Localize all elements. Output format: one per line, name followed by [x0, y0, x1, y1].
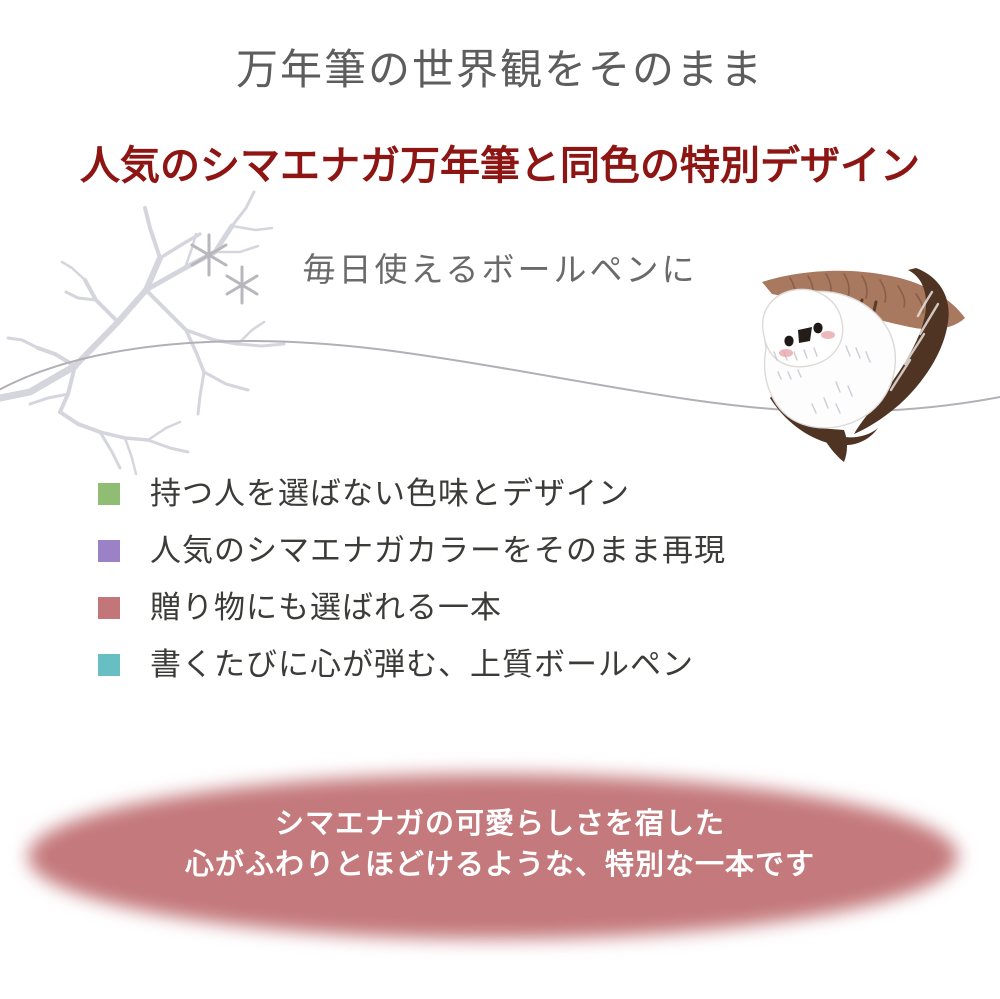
bird-cheek-left: [779, 349, 793, 357]
bird-cheek-right: [821, 331, 835, 339]
page-title: 万年筆の世界観をそのまま: [0, 36, 1000, 97]
bullet-square-icon: [98, 597, 120, 619]
bird-beak: [798, 327, 812, 343]
banner-line-1: シマエナガの可愛らしさを宿した: [0, 804, 1000, 845]
tree-silhouette-icon: [0, 192, 284, 474]
bird-wing-dark: [770, 394, 878, 445]
bird-tail: [854, 268, 949, 434]
feature-label: 贈り物にも選ばれる一本: [150, 592, 502, 623]
bullet-square-icon: [98, 540, 120, 562]
body-feather-texture: [774, 346, 870, 413]
banner-text: シマエナガの可愛らしさを宿した 心がふわりとほどけるような、特別な一本です: [0, 804, 1000, 886]
accent-headline: 人気のシマエナガ万年筆と同色の特別デザイン: [0, 133, 1000, 191]
list-item: 贈り物にも選ばれる一本: [98, 579, 958, 636]
feature-label: 人気のシマエナガカラーをそのまま再現: [150, 535, 726, 566]
bird-head: [763, 289, 843, 366]
feature-label: 持つ人を選ばない色味とデザイン: [150, 478, 630, 509]
list-item: 書くたびに心が弾む、上質ボールペン: [98, 636, 958, 693]
promo-page: 万年筆の世界観をそのまま 人気のシマエナガ万年筆と同色の特別デザイン 毎日使える…: [0, 0, 1000, 999]
bird-eye-right: [813, 323, 822, 334]
bullet-square-icon: [98, 483, 120, 505]
bird-foot-shadow: [818, 428, 847, 462]
feature-list: 持つ人を選ばない色味とデザイン 人気のシマエナガカラーをそのまま再現 贈り物にも…: [98, 465, 958, 693]
bottom-banner: シマエナガの可愛らしさを宿した 心がふわりとほどけるような、特別な一本です: [0, 766, 1000, 956]
list-item: 持つ人を選ばない色味とデザイン: [98, 465, 958, 522]
bird-legs: [848, 300, 880, 330]
bird-eye-left: [784, 336, 793, 347]
bird-body: [765, 291, 896, 428]
subheadline: 毎日使えるボールペンに: [0, 243, 1000, 291]
feature-label: 書くたびに心が弾む、上質ボールペン: [150, 649, 694, 680]
shimaenaga-bird-illustration: [762, 268, 965, 462]
snow-line: [0, 341, 1000, 412]
list-item: 人気のシマエナガカラーをそのまま再現: [98, 522, 958, 579]
bullet-square-icon: [98, 654, 120, 676]
tail-highlights: [891, 292, 938, 390]
banner-line-2: 心がふわりとほどけるような、特別な一本です: [0, 845, 1000, 886]
